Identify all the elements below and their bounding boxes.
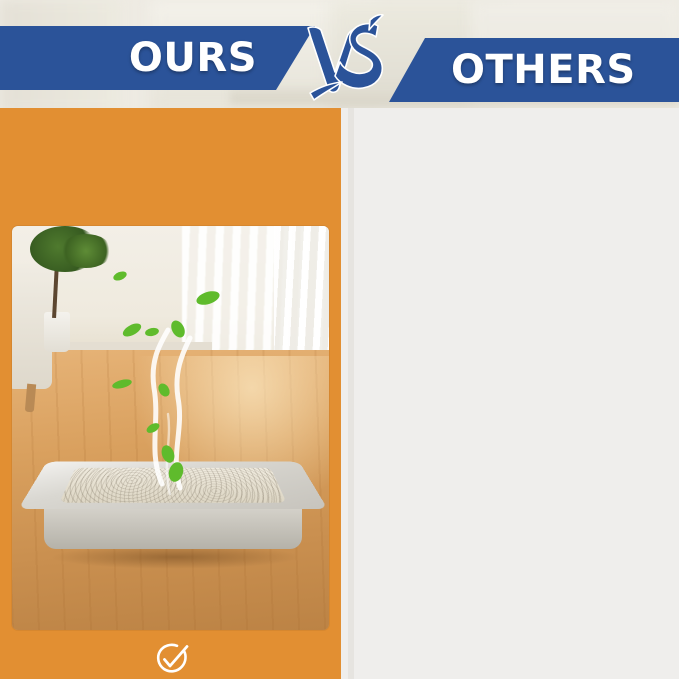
- vs-brush-logo-icon: [302, 14, 388, 106]
- check-circle-icon: [151, 640, 191, 679]
- comparison-infographic: OURS OTHERS: [0, 0, 679, 679]
- others-panel: Inability to lock odors, with residual s…: [341, 108, 679, 679]
- litter-box-photo-ours: [12, 226, 329, 630]
- others-banner-label: OTHERS: [451, 47, 636, 93]
- ours-panel: Fresh Straw Scent 24/7 Odor Control: [0, 108, 341, 679]
- ours-banner-label: OURS: [129, 35, 257, 81]
- panel-divider: [348, 108, 354, 679]
- ours-feature-block: Fresh Straw Scent 24/7 Odor Control: [0, 640, 341, 679]
- others-banner: OTHERS: [389, 38, 679, 102]
- ours-banner: OURS: [0, 26, 315, 90]
